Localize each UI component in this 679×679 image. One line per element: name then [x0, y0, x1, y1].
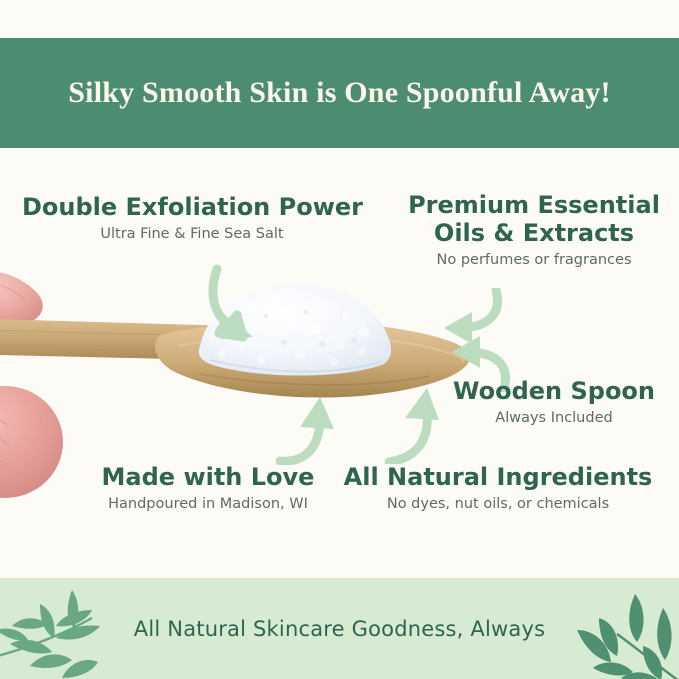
feature-subtitle-exfoliation: Ultra Fine & Fine Sea Salt	[22, 225, 362, 244]
product-infographic: Silky Smooth Skin is One Spoonful Away!	[0, 0, 679, 679]
arrow-to-salt-scrub-from-exfoliation	[207, 263, 277, 348]
feature-subtitle-spoon: Always Included	[438, 409, 670, 428]
feature-title-love: Made with Love	[74, 464, 342, 492]
feature-title-spoon: Wooden Spoon	[438, 378, 670, 406]
feature-made-with-love: Made with Love Handpoured in Madison, WI	[74, 464, 342, 514]
finger-shape	[0, 386, 63, 498]
feature-title-oils-line1: Premium Essential	[398, 192, 670, 220]
thumb-shape	[0, 270, 43, 326]
feature-title-exfoliation: Double Exfoliation Power	[22, 194, 362, 222]
header-banner: Silky Smooth Skin is One Spoonful Away!	[0, 38, 679, 148]
feature-subtitle-love: Handpoured in Madison, WI	[74, 495, 342, 514]
feature-wooden-spoon: Wooden Spoon Always Included	[438, 378, 670, 428]
feature-subtitle-ingredients: No dyes, nut oils, or chemicals	[336, 495, 660, 514]
feature-double-exfoliation: Double Exfoliation Power Ultra Fine & Fi…	[22, 194, 362, 244]
footer-banner: All Natural Skincare Goodness, Always	[0, 578, 679, 679]
header-title: Silky Smooth Skin is One Spoonful Away!	[68, 76, 610, 110]
feature-title-ingredients: All Natural Ingredients	[336, 464, 660, 492]
feature-all-natural-ingredients: All Natural Ingredients No dyes, nut oil…	[336, 464, 660, 514]
feature-premium-oils: Premium Essential Oils & Extracts No per…	[398, 192, 670, 270]
arrow-to-salt-scrub-from-ingredients	[379, 386, 439, 469]
arrow-to-spoon-handle-from-love	[276, 393, 334, 470]
feature-title-oils-line2: Oils & Extracts	[398, 220, 670, 248]
olive-branch-icon-right	[569, 578, 679, 679]
feature-subtitle-oils: No perfumes or fragrances	[398, 251, 670, 270]
